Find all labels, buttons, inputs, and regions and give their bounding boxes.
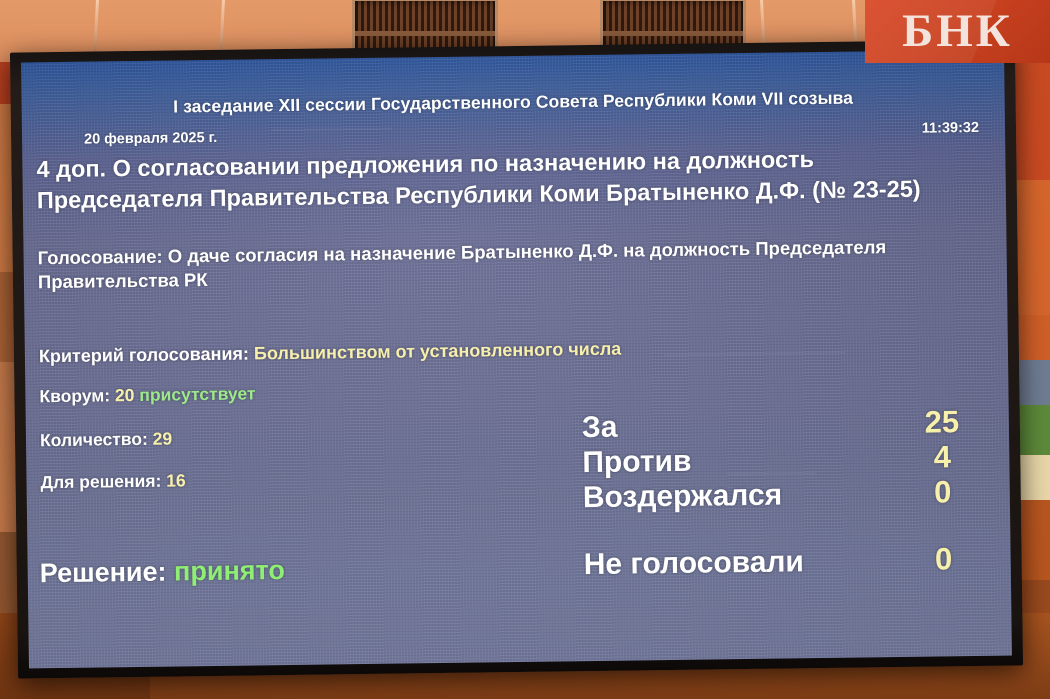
vote-results-column: За25Против4Воздержался0Не голосовали0 <box>582 406 993 583</box>
vote-result-value: 0 <box>912 476 974 510</box>
decision-row: Решение: принято <box>40 555 286 589</box>
vote-result-value: 4 <box>911 441 973 475</box>
vote-result-value: 25 <box>911 406 973 440</box>
voting-criteria-label: Критерий голосования: <box>39 344 249 367</box>
session-title: I заседание XII сессии Государственного … <box>22 86 1005 120</box>
board-screen: I заседание XII сессии Государственного … <box>21 50 1012 669</box>
vote-result-label: Воздержался <box>583 479 783 513</box>
quorum-label: Кворум: <box>39 385 110 406</box>
quorum-status: присутствует <box>139 383 256 405</box>
vote-result-row: За25 <box>582 406 991 444</box>
needed-votes-label: Для решения: <box>40 471 161 493</box>
needed-votes-row: Для решения: 16 <box>40 470 185 493</box>
quorum-number: 20 <box>115 385 135 405</box>
session-time: 11:39:32 <box>922 120 979 137</box>
vote-question: Голосование: О даче согласия на назначен… <box>37 234 967 294</box>
screenshot-root: БНК I заседание XII сессии Государственн… <box>0 0 1050 699</box>
vote-result-row: Не голосовали0 <box>583 542 992 580</box>
vote-result-label: Против <box>582 446 691 479</box>
vote-result-row: Против4 <box>582 441 991 479</box>
voting-criteria-value: Большинством от установленного числа <box>254 339 622 364</box>
bnk-watermark-logo: БНК <box>865 0 1050 63</box>
total-count-row: Количество: 29 <box>40 429 172 452</box>
decision-value: принято <box>174 555 285 586</box>
needed-votes-value: 16 <box>166 470 186 490</box>
total-count-value: 29 <box>153 429 173 449</box>
agenda-heading: 4 доп. О согласовании предложения по наз… <box>36 142 996 217</box>
total-count-label: Количество: <box>40 429 148 450</box>
voting-criteria-row: Критерий голосования: Большинством от ус… <box>39 339 622 368</box>
session-date: 20 февраля 2025 г. <box>84 130 217 148</box>
vote-result-value: 0 <box>912 543 974 577</box>
vote-result-row: Воздержался0 <box>583 476 992 514</box>
quorum-row: Кворум: 20 присутствует <box>39 383 255 407</box>
vote-result-label: Не голосовали <box>583 546 804 581</box>
led-voting-board: I заседание XII сессии Государственного … <box>10 39 1023 678</box>
decision-label: Решение: <box>40 557 167 589</box>
vote-result-label: За <box>582 412 618 444</box>
bnk-watermark-text: БНК <box>902 8 1013 55</box>
